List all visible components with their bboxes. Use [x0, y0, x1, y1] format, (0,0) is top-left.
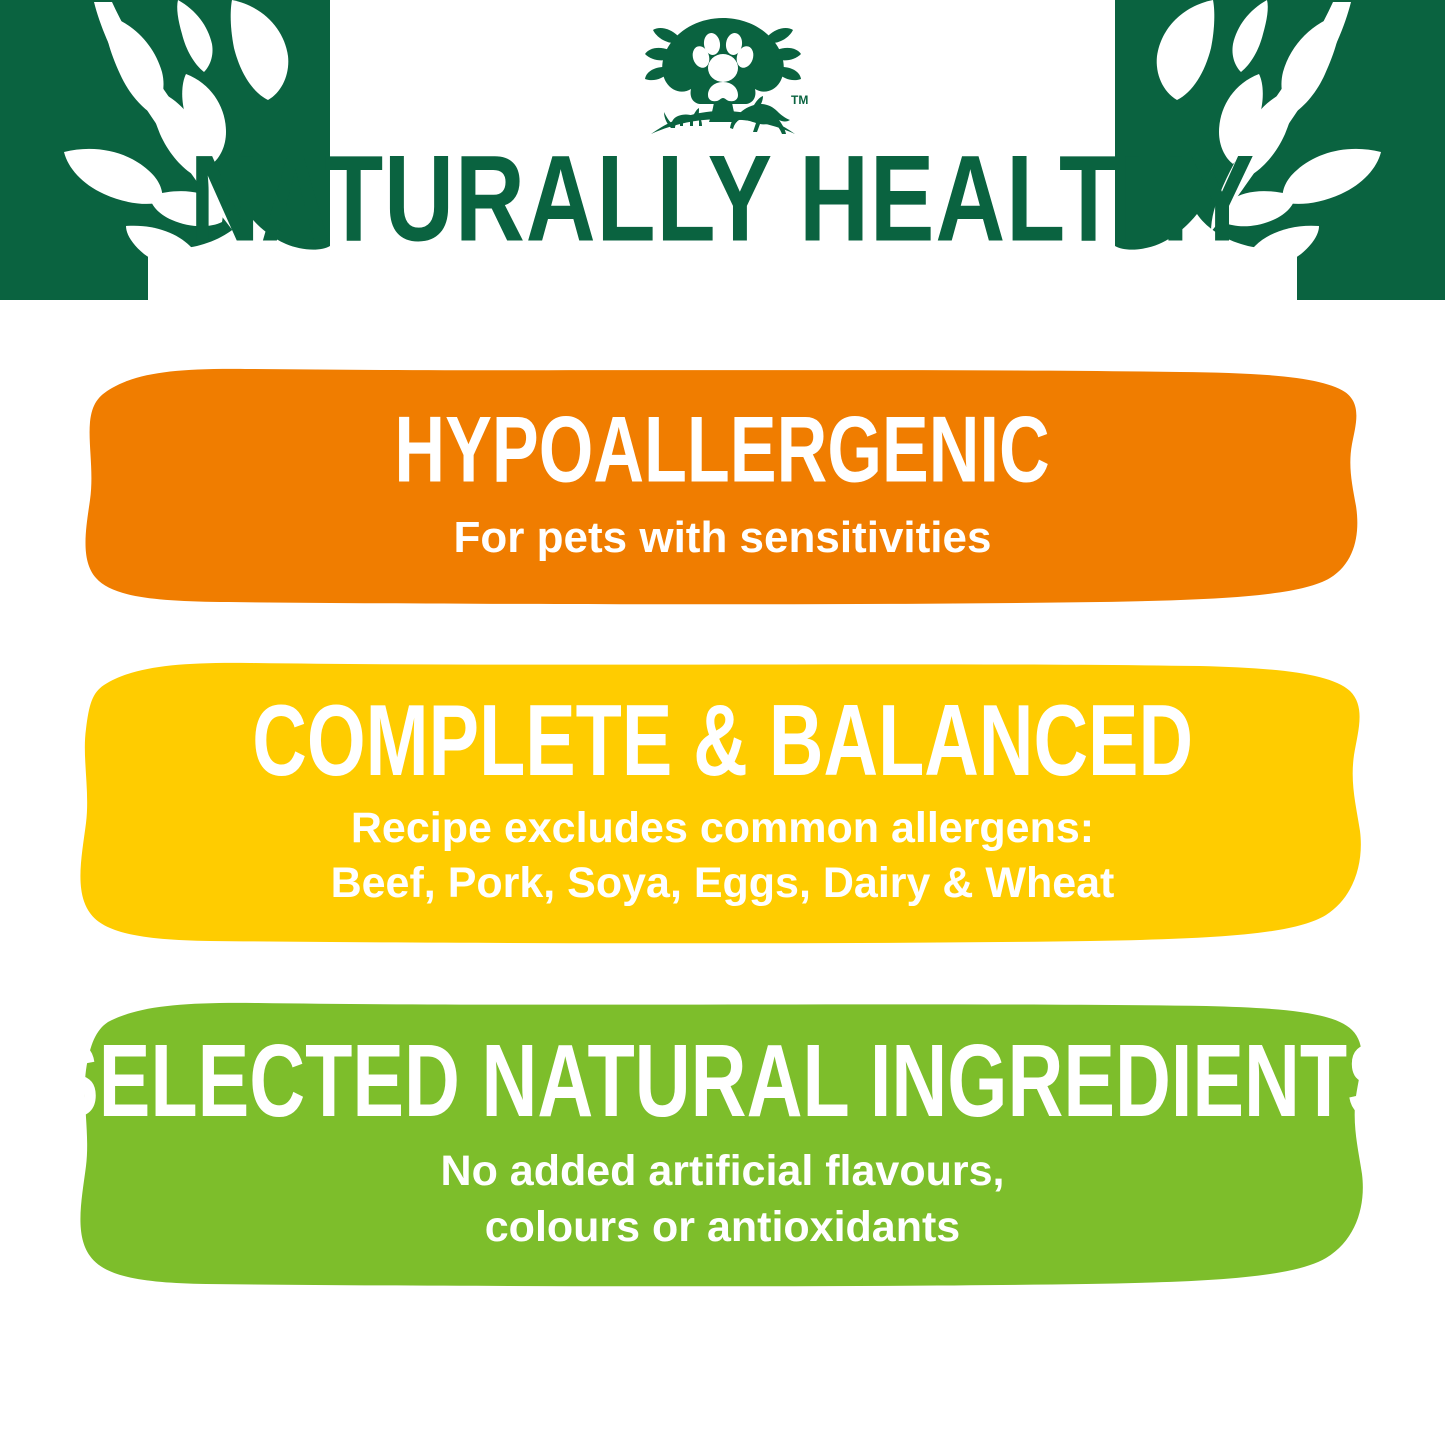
trademark-mark: TM: [791, 93, 808, 107]
benefit-banner-selected-ingredients: SELECTED NATURAL INGREDIENTS No added ar…: [0, 1000, 1445, 1292]
banner-subtitle-line-2: Beef, Pork, Soya, Eggs, Dairy & Wheat: [331, 856, 1115, 911]
page-title: NATURALLY HEALTHY: [51, 138, 1395, 261]
tree-paw-cat-dog-logo-icon: TM: [633, 12, 813, 137]
banner-subtitle-line: For pets with sensitivities: [454, 511, 992, 565]
banner-subtitle-line: Recipe excludes common allergens:: [351, 801, 1094, 856]
header-band: TM NATURALLY HEALTHY: [0, 0, 1445, 300]
banner-subtitle-line: No added artificial flavours,: [441, 1143, 1005, 1199]
brand-logo: TM: [633, 12, 813, 137]
banner-subtitle-line-2: colours or antioxidants: [485, 1199, 960, 1255]
benefit-banner-hypoallergenic: HYPOALLERGENIC For pets with sensitiviti…: [0, 366, 1445, 608]
benefit-banner-complete-balanced: COMPLETE & BALANCED Recipe excludes comm…: [0, 659, 1445, 949]
banner-title: COMPLETE & BALANCED: [252, 688, 1193, 791]
banner-title: HYPOALLERGENIC: [395, 401, 1050, 497]
banner-title: SELECTED NATURAL INGREDIENTS: [47, 1028, 1399, 1134]
